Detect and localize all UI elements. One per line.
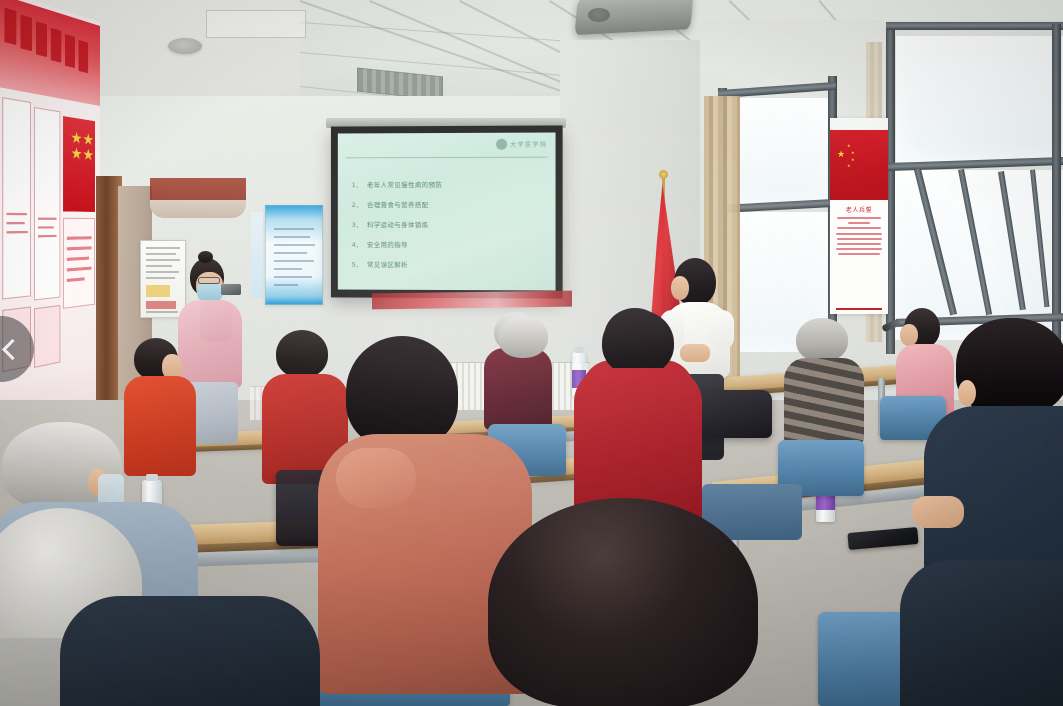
wall-notice-sheet: [140, 240, 186, 318]
hair: [602, 310, 674, 376]
hair: [488, 498, 758, 706]
handbag-black: [700, 390, 772, 438]
torso: [60, 596, 320, 706]
slide-bullet-3: 3、 科学运动与身体锁炼: [352, 219, 546, 229]
smoke-detector-icon: [168, 38, 202, 54]
window-head-right: [886, 22, 1063, 30]
bottle-cap: [146, 474, 158, 481]
presenter-sleeve-right: [710, 310, 734, 350]
wall-display-board: ★★★★: [0, 0, 100, 454]
wall-vertical-banner: ★ ★ ★ ★ ★ 老人兵誓: [830, 118, 888, 314]
slide-logo-mark: [496, 139, 507, 150]
torso: [124, 376, 196, 476]
face: [900, 324, 918, 346]
projector-lens: [588, 8, 610, 22]
photo-scene: ★★★★: [0, 0, 1063, 706]
banner-flag-graphic: ★ ★ ★ ★ ★: [830, 130, 888, 200]
glasses-icon: [198, 277, 220, 284]
presenter-hands: [680, 344, 710, 362]
hand: [912, 496, 964, 528]
slide-logo: 大学医学院: [496, 139, 547, 150]
ear: [958, 380, 976, 406]
window-mullion-far-right: [1052, 24, 1061, 354]
hair: [276, 330, 328, 378]
ceiling-access-panel: [206, 10, 306, 38]
slide-divider: [346, 157, 548, 159]
slide-bullet-5: 5、 常见误区解析: [352, 259, 546, 270]
slide-bullet-list: 1、 老年人常见慢性病的预防 2、 合理膏食与营养搭配 3、 科学运动与身体锁炼…: [352, 179, 546, 280]
banner-text-block: 老人兵誓: [830, 200, 888, 314]
bottle-cap: [575, 347, 584, 353]
photographer-arms: [200, 300, 232, 342]
door-arch: [150, 200, 246, 218]
photographer-phone: [221, 284, 241, 295]
torso: [784, 358, 864, 444]
shoulder-highlight: [336, 448, 416, 508]
wall-poster-narrow: [251, 212, 263, 298]
wall-red-banner: [372, 291, 572, 310]
photographer-bun: [198, 251, 213, 263]
wall-poster-blue: [265, 205, 323, 305]
hair: [346, 336, 458, 448]
torso: [484, 348, 552, 430]
torso: [900, 560, 1063, 706]
slide-logo-text: 大学医学院: [510, 140, 547, 149]
slide-bullet-1: 1、 老年人常见慢性病的预防: [352, 179, 546, 189]
slide-bullet-4: 4、 安全用药指导: [352, 239, 546, 249]
projected-slide: 大学医学院 1、 老年人常见慢性病的预防 2、 合理膏食与营养搭配 3、 科学运…: [338, 132, 556, 290]
slide-bullet-2: 2、 合理膏食与营养搭配: [352, 199, 546, 209]
window-pane-right-upper: [896, 36, 1063, 162]
hair: [498, 316, 548, 358]
banner-title: 老人兵誓: [834, 205, 884, 214]
hair: [796, 318, 848, 362]
presenter-face: [671, 276, 689, 300]
projection-screen: 大学医学院 1、 老年人常见慢性病的预防 2、 合理膏食与营养搭配 3、 科学运…: [331, 125, 563, 298]
window-pane-left-upper: [726, 98, 832, 206]
chevron-left-icon: [1, 338, 22, 359]
